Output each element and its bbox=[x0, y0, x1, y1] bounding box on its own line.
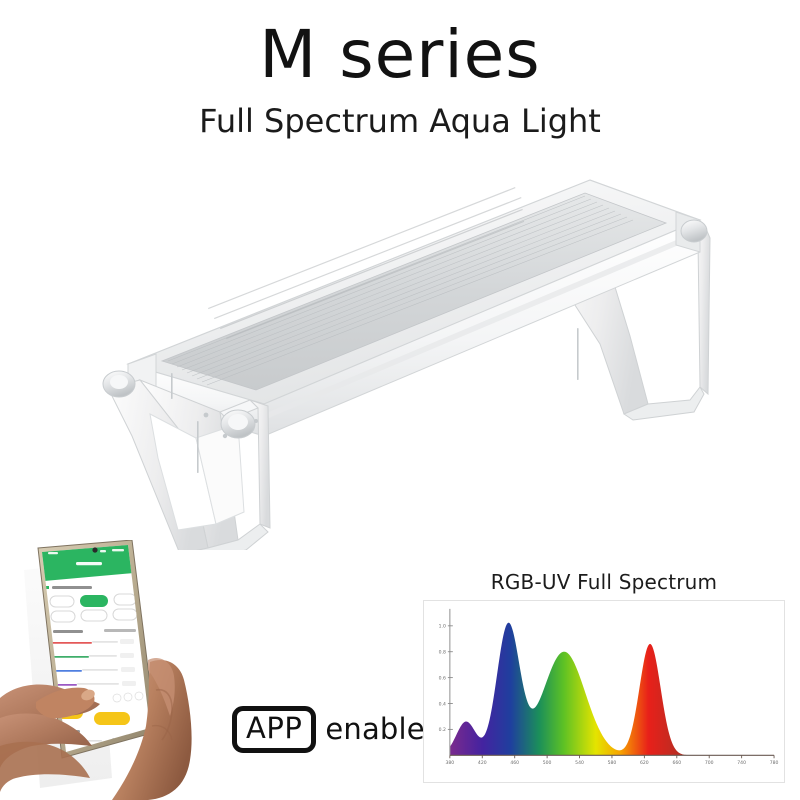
chart-card: 3804204605005405806206607007407800.20.40… bbox=[423, 600, 785, 783]
x-tick-label: 380 bbox=[446, 760, 455, 766]
x-tick-label: 580 bbox=[608, 760, 617, 766]
app-badge-box: APP bbox=[232, 706, 316, 753]
y-tick-label: 0.8 bbox=[439, 650, 446, 656]
x-tick-label: 620 bbox=[640, 760, 649, 766]
phone-camera bbox=[92, 547, 97, 552]
product-leg-left bbox=[108, 380, 270, 550]
x-tick-label: 700 bbox=[705, 760, 714, 766]
spectrum-plot: 3804204605005405806206607007407800.20.40… bbox=[424, 601, 784, 782]
app-chip-active[interactable] bbox=[80, 595, 108, 607]
product-illustration bbox=[88, 168, 712, 550]
y-tick-label: 0.6 bbox=[439, 675, 446, 681]
x-tick-label: 780 bbox=[770, 760, 779, 766]
app-chip-4[interactable] bbox=[51, 611, 75, 622]
app-chip-3[interactable] bbox=[114, 594, 136, 605]
app-demo-photo bbox=[0, 540, 235, 800]
app-chip-5[interactable] bbox=[81, 610, 107, 621]
chart-title: RGB-UV Full Spectrum bbox=[418, 572, 790, 592]
page-subtitle: Full Spectrum Aqua Light bbox=[0, 104, 800, 139]
poster-canvas: M series Full Spectrum Aqua Light bbox=[0, 0, 800, 800]
x-tick-label: 740 bbox=[737, 760, 746, 766]
app-primary-button-2[interactable] bbox=[94, 712, 130, 725]
x-tick-label: 460 bbox=[510, 760, 519, 766]
spectrum-chart: RGB-UV Full Spectrum 3804204605005405806… bbox=[418, 572, 790, 788]
app-chip-6[interactable] bbox=[113, 609, 137, 620]
x-tick-label: 500 bbox=[543, 760, 552, 766]
page-title: M series bbox=[0, 22, 800, 88]
y-tick-label: 0.2 bbox=[439, 727, 446, 733]
spectrum-area bbox=[450, 623, 774, 756]
app-chip-1[interactable] bbox=[50, 596, 74, 607]
product-image bbox=[88, 168, 712, 550]
y-tick-label: 0.4 bbox=[439, 701, 446, 707]
app-title-text bbox=[76, 562, 102, 565]
x-tick-label: 540 bbox=[575, 760, 584, 766]
hands-phone-illustration bbox=[0, 540, 235, 800]
x-tick-label: 660 bbox=[672, 760, 681, 766]
x-tick-label: 420 bbox=[478, 760, 487, 766]
app-section-1 bbox=[46, 586, 92, 589]
app-enabled-badge: APP enabled bbox=[232, 706, 443, 753]
y-tick-label: 1.0 bbox=[439, 624, 446, 630]
